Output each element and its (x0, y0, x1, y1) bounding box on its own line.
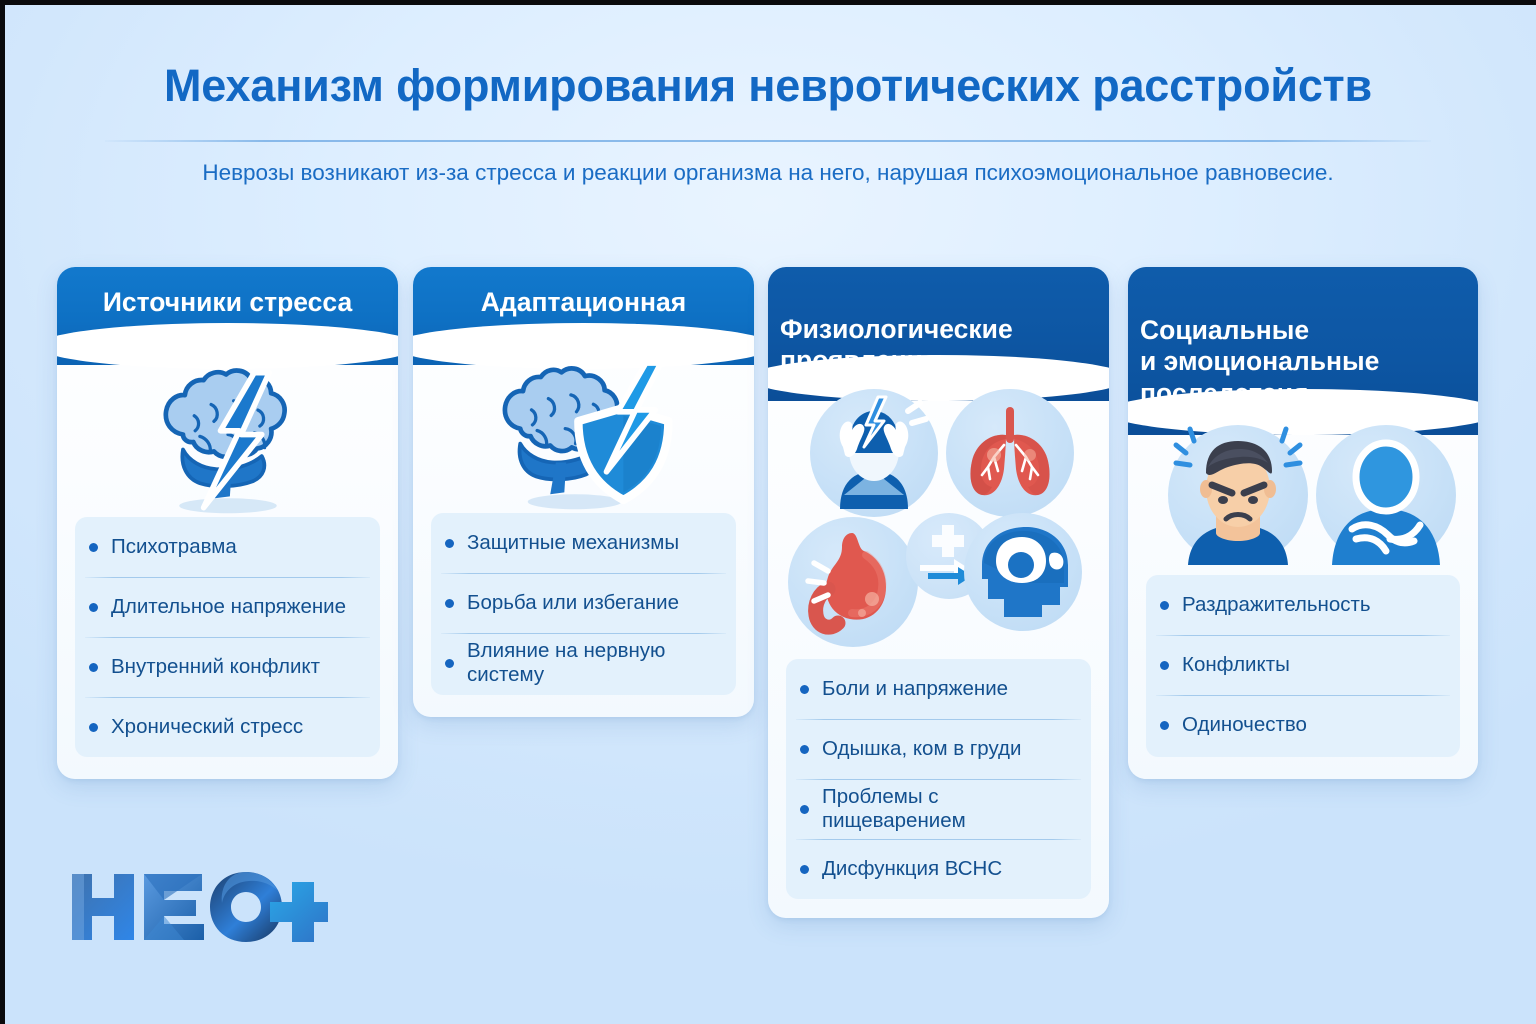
bullet-icon (89, 543, 98, 552)
bullet-icon (445, 599, 454, 608)
card-title-social-line1: Социальные (1128, 315, 1321, 346)
neo-plus-logo-glyph (68, 860, 328, 955)
brain-head-icon-glyph (964, 513, 1082, 631)
list-item-label: Одиночество (1182, 713, 1307, 737)
bullet-icon (800, 865, 809, 874)
bullet-icon (445, 659, 454, 668)
bullet-icon (800, 805, 809, 814)
bullet-icon (89, 603, 98, 612)
icon-area-card2 (413, 363, 754, 513)
list-item[interactable]: Одиночество (1146, 695, 1460, 755)
card-physiological-manifestations[interactable]: Физиологические проявления (768, 267, 1109, 918)
list-item-label: Проблемы с пищеварением (822, 785, 1077, 833)
list-item[interactable]: Боли и напряжение (786, 659, 1091, 719)
list-item-label: Хронический стресс (111, 715, 303, 739)
icon-area-card4 (1128, 425, 1478, 575)
neo-plus-logo[interactable] (68, 860, 328, 955)
list-item-label: Конфликты (1182, 653, 1290, 677)
list-item[interactable]: Хронический стресс (75, 697, 380, 757)
card-social-emotional-consequences[interactable]: Социальные и эмоциональные последстаия (1128, 267, 1478, 779)
list-item-label: Борьба или избегание (467, 591, 679, 615)
list-item[interactable]: Внутренний конфликт (75, 637, 380, 697)
list-item[interactable]: Защитные механизмы (431, 513, 736, 573)
list-item-label: Боли и напряжение (822, 677, 1008, 701)
header-curve-1 (57, 323, 398, 369)
angry-face-icon (1168, 425, 1308, 565)
lonely-person-glyph (1316, 425, 1456, 565)
headache-icon (810, 389, 938, 517)
lonely-person-icon (1316, 425, 1456, 565)
list-item-label: Защитные механизмы (467, 531, 679, 555)
list-item[interactable]: Дисфункция ВСНС (786, 839, 1091, 899)
icon-area-card1 (57, 367, 398, 517)
list-item-label: Внутренний конфликт (111, 655, 320, 679)
list-panel-card1: Психотравма Длительное напряжение Внутре… (75, 517, 380, 757)
list-item[interactable]: Влияние на нервную систему (431, 633, 736, 693)
infographic-canvas: Механизм формирования невротических расс… (0, 0, 1536, 1024)
list-item-label: Влияние на нервную систему (467, 639, 722, 687)
list-item[interactable]: Борьба или избегание (431, 573, 736, 633)
lungs-icon-glyph (946, 389, 1074, 517)
bullet-icon (89, 723, 98, 732)
list-item-label: Раздражительность (1182, 593, 1371, 617)
bullet-icon (1160, 721, 1169, 730)
page-title: Механизм формирования невротических расс… (0, 60, 1536, 112)
brain-lightning-icon (128, 367, 328, 517)
list-item[interactable]: Одышка, ком в груди (786, 719, 1091, 779)
title-divider (105, 140, 1431, 142)
page-subtitle: Неврозы возникают из-за стресса и реакци… (0, 160, 1536, 186)
list-panel-card2: Защитные механизмы Борьба или избегание … (431, 513, 736, 695)
list-item-label: Длительное напряжение (111, 595, 346, 619)
bullet-icon (1160, 601, 1169, 610)
bullet-icon (1160, 661, 1169, 670)
list-item[interactable]: Проблемы с пищеварением (786, 779, 1091, 839)
headache-icon-glyph (810, 389, 938, 517)
icon-area-card3 (768, 389, 1109, 657)
list-item[interactable]: Раздражительность (1146, 575, 1460, 635)
bullet-icon (800, 745, 809, 754)
card-title-sources-of-stress: Источники стресса (91, 287, 364, 318)
card-title-social-line2: и эмоциональные (1128, 346, 1391, 377)
list-panel-card3: Боли и напряжение Одышка, ком в груди Пр… (786, 659, 1091, 899)
brain-shield-lightning-icon (474, 363, 694, 513)
list-item-label: Одышка, ком в груди (822, 737, 1021, 761)
list-panel-card4: Раздражительность Конфликты Одиночество (1146, 575, 1460, 757)
list-item[interactable]: Конфликты (1146, 635, 1460, 695)
bullet-icon (445, 539, 454, 548)
list-item[interactable]: Длительное напряжение (75, 577, 380, 637)
card-title-physiological-line1: Физиологические (768, 314, 1025, 345)
left-edge-strip (0, 0, 5, 1024)
list-item[interactable]: Психотравма (75, 517, 380, 577)
list-item-label: Психотравма (111, 535, 237, 559)
bullet-icon (89, 663, 98, 672)
stomach-icon (788, 517, 918, 647)
card-sources-of-stress[interactable]: Источники стресса (57, 267, 398, 779)
card-adaptive-reaction[interactable]: Адаптационная реакция (413, 267, 754, 717)
lungs-icon (946, 389, 1074, 517)
list-item-label: Дисфункция ВСНС (822, 857, 1002, 881)
bullet-icon (800, 685, 809, 694)
stomach-icon-glyph (788, 517, 918, 647)
angry-face-glyph (1168, 425, 1308, 565)
brain-head-icon (964, 513, 1082, 631)
top-edge-strip (0, 0, 1536, 5)
